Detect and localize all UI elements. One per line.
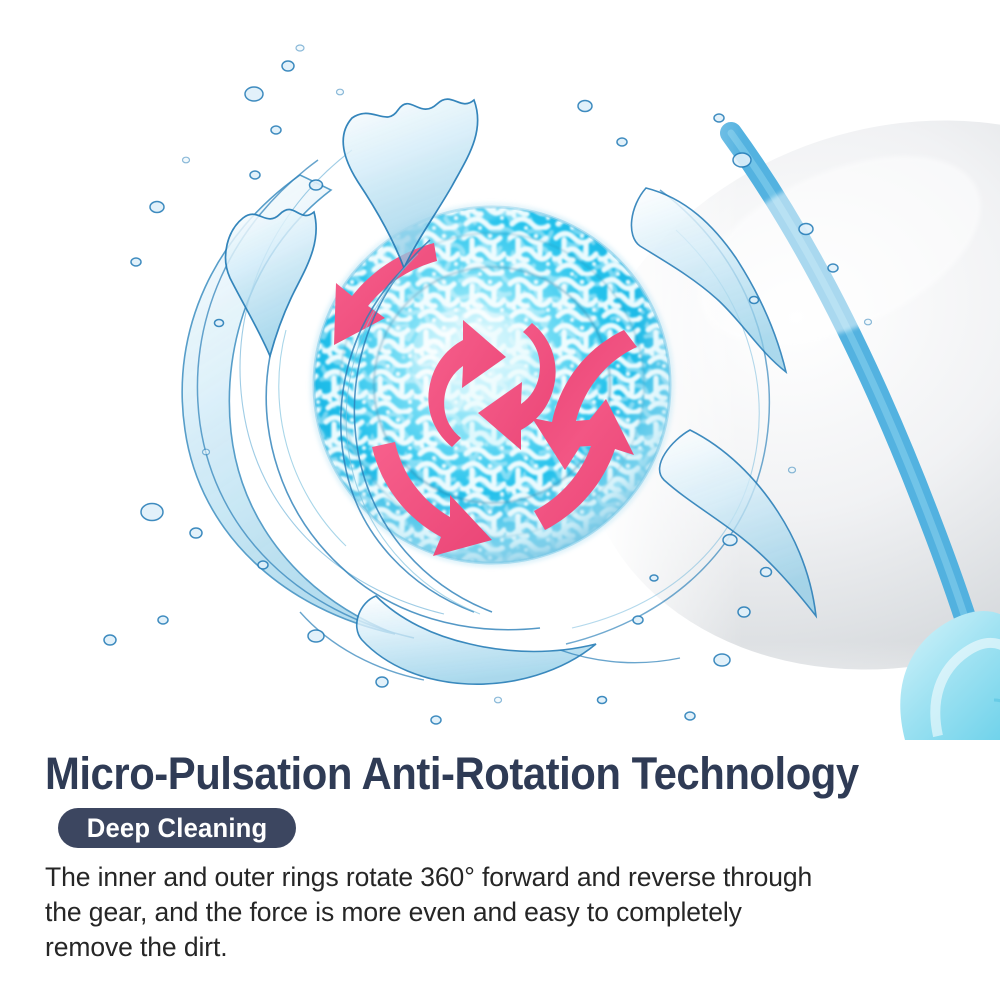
body-line-2: the gear, and the force is more even and…: [45, 895, 935, 930]
hero-image: [0, 0, 1000, 740]
body-line-1: The inner and outer rings rotate 360° fo…: [45, 860, 935, 895]
body-copy: The inner and outer rings rotate 360° fo…: [45, 860, 935, 965]
text-block: Micro-Pulsation Anti-Rotation Technology…: [0, 735, 1000, 1000]
body-line-3: remove the dirt.: [45, 930, 935, 965]
hero-illustration: [0, 0, 1000, 740]
badge-label: Deep Cleaning: [87, 815, 268, 842]
product-feature-banner: Micro-Pulsation Anti-Rotation Technology…: [0, 0, 1000, 1000]
page-title: Micro-Pulsation Anti-Rotation Technology: [45, 749, 859, 799]
status-badge: Deep Cleaning: [58, 808, 296, 848]
